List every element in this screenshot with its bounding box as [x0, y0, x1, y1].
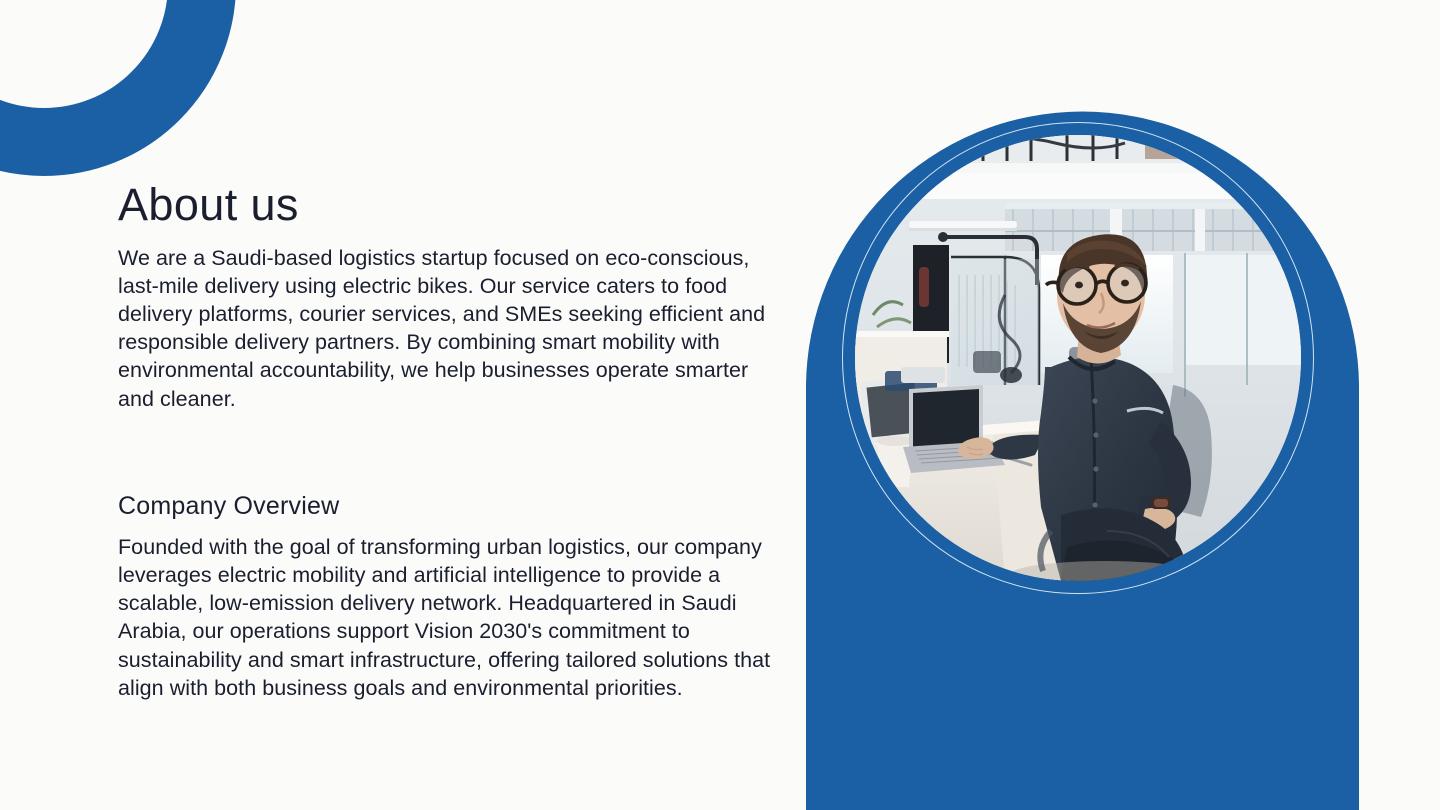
- about-section: About us We are a Saudi-based logistics …: [118, 181, 778, 413]
- page-title: About us: [118, 181, 778, 230]
- slide-canvas: About us We are a Saudi-based logistics …: [0, 0, 1440, 810]
- company-overview-section: Company Overview Founded with the goal o…: [118, 492, 778, 702]
- corner-ring-arc-decoration: [0, 0, 236, 176]
- section-heading: Company Overview: [118, 492, 778, 521]
- intro-paragraph: We are a Saudi-based logistics startup f…: [118, 244, 778, 413]
- about-photo: [855, 135, 1301, 581]
- text-column: About us We are a Saudi-based logistics …: [118, 181, 778, 702]
- section-paragraph: Founded with the goal of transforming ur…: [118, 533, 783, 702]
